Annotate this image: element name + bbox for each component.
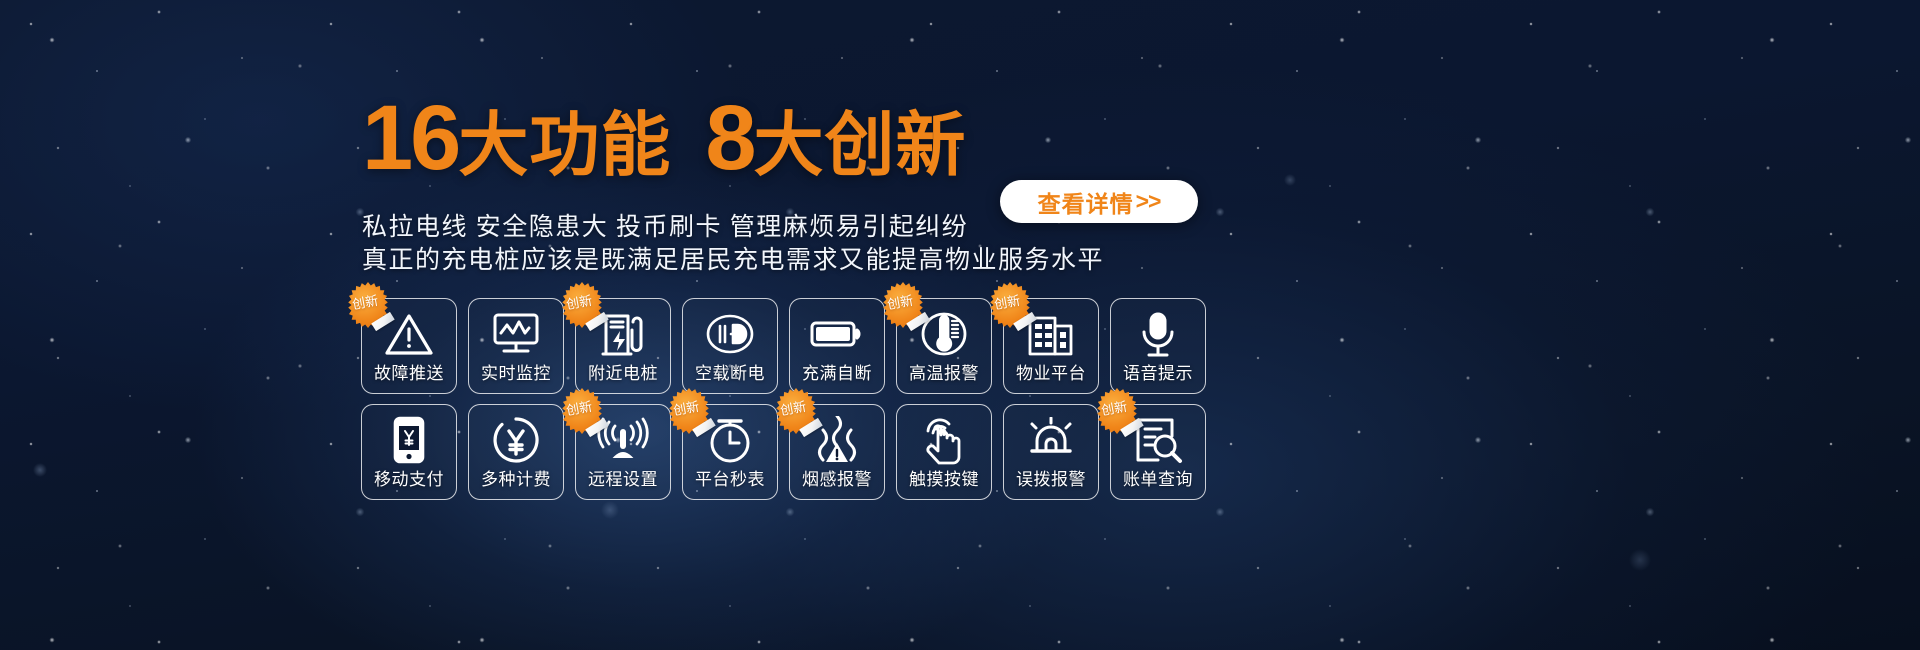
monitor-waveform-icon <box>489 305 543 363</box>
feature-card-nearby-pile[interactable]: 创新 附近电桩 <box>575 298 671 394</box>
innovation-badge-label: 创新 <box>993 289 1022 312</box>
touch-hand-icon <box>918 411 970 469</box>
feature-label: 空载断电 <box>695 365 765 382</box>
mobile-payment-icon <box>389 411 429 469</box>
innovation-badge: 创新 <box>773 388 819 434</box>
feature-card-bill-query[interactable]: 创新 账单查询 <box>1110 404 1206 500</box>
headline-number-innovations: 8 <box>705 87 753 189</box>
feature-label: 高温报警 <box>909 365 979 382</box>
innovation-badge: 创新 <box>559 388 605 434</box>
innovation-badge-label: 创新 <box>886 289 915 312</box>
innovation-badge-label: 创新 <box>779 395 808 418</box>
innovation-badge-label: 创新 <box>565 395 594 418</box>
yuan-circle-icon <box>491 411 541 469</box>
innovation-badge-label: 创新 <box>1100 395 1129 418</box>
feature-label: 语音提示 <box>1123 365 1193 382</box>
headline: 16大功能8大创新 <box>362 92 967 184</box>
feature-label: 实时监控 <box>481 365 551 382</box>
feature-card-voice-prompt[interactable]: 语音提示 <box>1110 298 1206 394</box>
feature-label: 附近电桩 <box>588 365 658 382</box>
innovation-badge: 创新 <box>880 282 926 328</box>
feature-label: 故障推送 <box>374 365 444 382</box>
feature-card-noload-cutoff[interactable]: 空载断电 <box>682 298 778 394</box>
feature-row-2: 移动支付 多种计费 创新 <box>361 404 1206 500</box>
feature-card-high-temp-alarm[interactable]: 创新 高温报警 <box>896 298 992 394</box>
feature-card-platform-stopwatch[interactable]: 创新 平台秒表 <box>682 404 778 500</box>
battery-full-icon <box>809 305 865 363</box>
feature-label: 烟感报警 <box>802 471 872 488</box>
innovation-badge: 创新 <box>1094 388 1140 434</box>
subtitle-line-2: 真正的充电桩应该是既满足居民充电需求又能提高物业服务水平 <box>362 240 1104 276</box>
feature-label: 移动支付 <box>374 471 444 488</box>
plug-disconnect-icon <box>703 305 757 363</box>
banner-stage: 16大功能8大创新 私拉电线 安全隐患大 投币刷卡 管理麻烦易引起纠纷 真正的充… <box>0 0 1920 650</box>
feature-card-auto-cutoff-full[interactable]: 充满自断 <box>789 298 885 394</box>
feature-card-realtime-monitor[interactable]: 实时监控 <box>468 298 564 394</box>
innovation-badge: 创新 <box>987 282 1033 328</box>
feature-row-1: 创新 故障推送 实时监控 <box>361 298 1206 394</box>
feature-label: 物业平台 <box>1016 365 1086 382</box>
chevron-right-icon: >> <box>1136 188 1161 215</box>
headline-text-functions: 大功能 <box>458 106 671 184</box>
feature-card-smoke-alarm[interactable]: 创新 烟感报警 <box>789 404 885 500</box>
feature-card-property-platform[interactable]: 创新 物业平台 <box>1003 298 1099 394</box>
alarm-bell-icon <box>1025 411 1077 469</box>
feature-label: 多种计费 <box>481 471 551 488</box>
feature-grid: 创新 故障推送 实时监控 <box>361 298 1206 500</box>
innovation-badge: 创新 <box>559 282 605 328</box>
feature-label: 平台秒表 <box>695 471 765 488</box>
feature-card-remote-setting[interactable]: 创新 远程设置 <box>575 404 671 500</box>
innovation-badge-label: 创新 <box>351 289 380 312</box>
headline-number-functions: 16 <box>362 87 458 189</box>
feature-card-misdial-alarm[interactable]: 误拨报警 <box>1003 404 1099 500</box>
feature-label: 账单查询 <box>1123 471 1193 488</box>
feature-label: 误拨报警 <box>1016 471 1086 488</box>
innovation-badge-label: 创新 <box>672 395 701 418</box>
feature-label: 触摸按键 <box>909 471 979 488</box>
innovation-badge-label: 创新 <box>565 289 594 312</box>
innovation-badge: 创新 <box>666 388 712 434</box>
feature-card-multi-billing[interactable]: 多种计费 <box>468 404 564 500</box>
feature-card-fault-push[interactable]: 创新 故障推送 <box>361 298 457 394</box>
subtitle-line-1: 私拉电线 安全隐患大 投币刷卡 管理麻烦易引起纠纷 <box>362 207 968 243</box>
view-details-label: 查看详情 <box>1038 185 1134 219</box>
feature-card-touch-key[interactable]: 触摸按键 <box>896 404 992 500</box>
headline-text-innovations: 大创新 <box>754 106 967 184</box>
microphone-icon <box>1136 305 1180 363</box>
feature-label: 远程设置 <box>588 471 658 488</box>
view-details-button[interactable]: 查看详情>> <box>1000 180 1198 223</box>
innovation-badge: 创新 <box>345 282 391 328</box>
feature-label: 充满自断 <box>802 365 872 382</box>
feature-card-mobile-payment[interactable]: 移动支付 <box>361 404 457 500</box>
